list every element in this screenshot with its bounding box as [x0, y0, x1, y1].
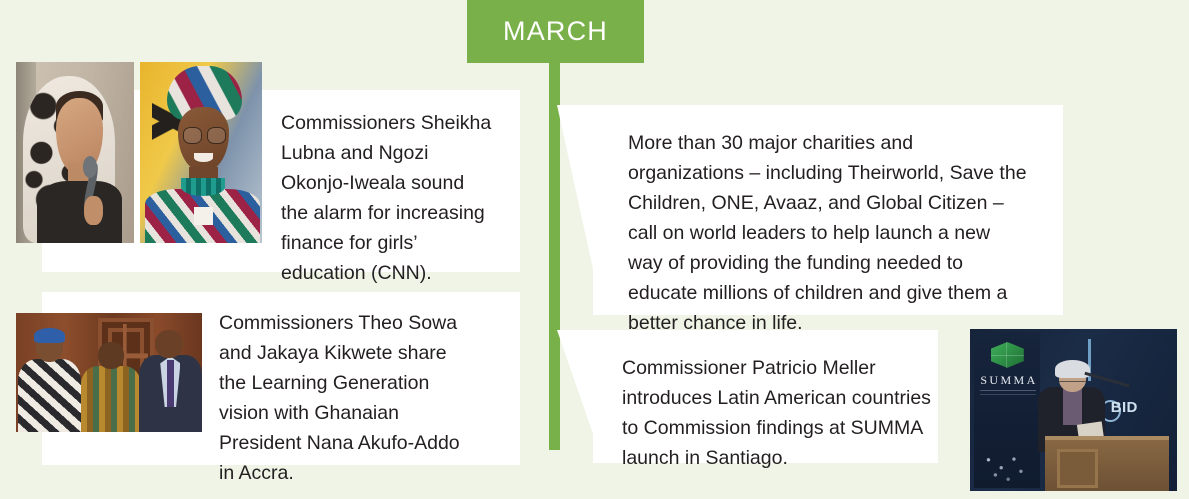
month-label: MARCH — [503, 16, 608, 47]
timeline-spine — [549, 0, 560, 450]
timeline-card-text-summa-launch: Commissioner Patricio Meller introduces … — [622, 353, 952, 473]
timeline-card-text-lubna-ngozi: Commissioners Sheikha Lubna and Ngozi Ok… — [281, 108, 493, 288]
summa-wordmark: SUMMA — [980, 373, 1036, 386]
march-timeline-infographic: MARCH Commissioners Sheikha Lubna and Ng… — [0, 0, 1189, 499]
card-pointer-charities-call — [557, 105, 593, 315]
ngozi-okonjo-iweala-photo — [140, 62, 262, 243]
card-pointer-summa-launch — [557, 330, 593, 463]
accra-group-photo — [16, 313, 202, 432]
summa-launch-photo: SUMMA BID — [970, 329, 1177, 491]
timeline-card-text-charities-call: More than 30 major charities and organiz… — [628, 128, 1030, 338]
month-header-march: MARCH — [467, 0, 644, 63]
sheikha-lubna-photo — [16, 62, 134, 243]
bid-wordmark: BID — [1111, 399, 1169, 420]
timeline-card-text-accra-visit: Commissioners Theo Sowa and Jakaya Kikwe… — [219, 308, 479, 488]
